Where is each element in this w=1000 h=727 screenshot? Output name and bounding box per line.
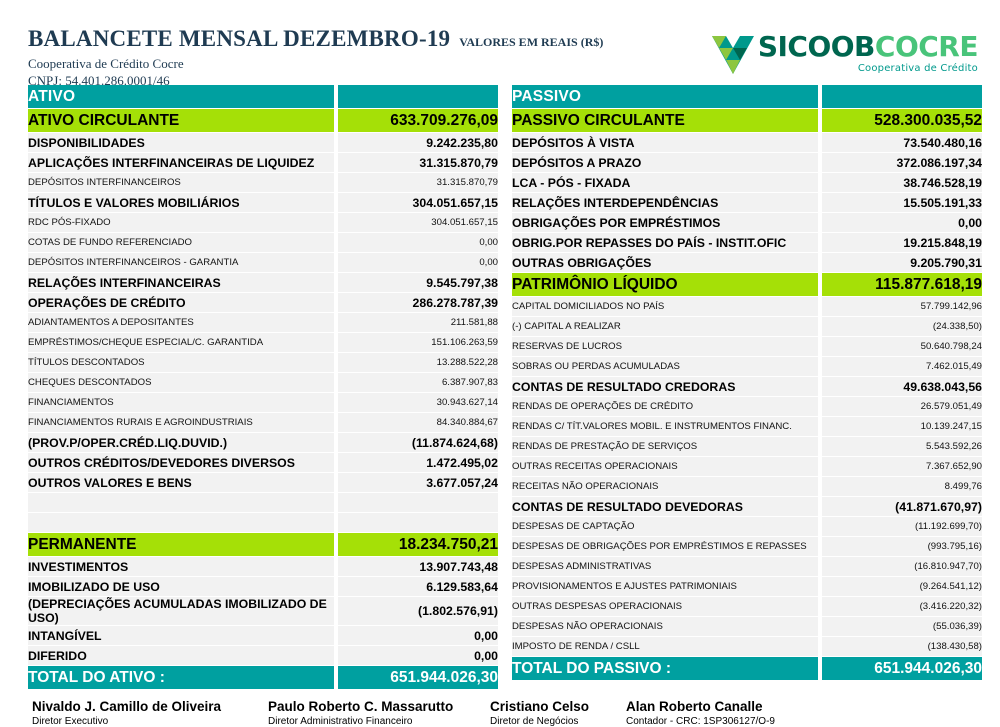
row-value: 84.340.884,67 (338, 413, 498, 432)
table-row: PASSIVO CIRCULANTE528.300.035,52 (512, 109, 982, 132)
table-row: DESPESAS DE CAPTAÇÃO(11.192.699,70) (512, 517, 982, 536)
row-value: 31.315.870,79 (338, 173, 498, 192)
row-label: DISPONIBILIDADES (28, 133, 334, 152)
table-row: CONTAS DE RESULTADO DEVEDORAS(41.871.670… (512, 497, 982, 516)
liabilities-column: PASSIVO PASSIVO CIRCULANTE528.300.035,52… (512, 84, 982, 690)
table-row: RDC PÓS-FIXADO304.051.657,15 (28, 213, 498, 232)
table-row: DEPÓSITOS A PRAZO372.086.197,34 (512, 153, 982, 172)
row-value: 528.300.035,52 (822, 109, 982, 132)
table-row: OUTRAS DESPESAS OPERACIONAIS(3.416.220,3… (512, 597, 982, 616)
row-value: 10.139.247,15 (822, 417, 982, 436)
row-value: (11.874.624,68) (338, 433, 498, 452)
balance-columns: ATIVO ATIVO CIRCULANTE633.709.276,09DISP… (0, 84, 1000, 690)
row-value: 372.086.197,34 (822, 153, 982, 172)
signature-block: Nivaldo J. Camillo de OliveiraDiretor Ex… (0, 690, 1000, 727)
row-label: OBRIG.POR REPASSES DO PAÍS - INSTIT.OFIC (512, 233, 818, 252)
row-label: RELAÇÕES INTERDEPENDÊNCIAS (512, 193, 818, 212)
row-label: OUTRAS DESPESAS OPERACIONAIS (512, 597, 818, 616)
row-label: IMOBILIZADO DE USO (28, 577, 334, 596)
table-row: TÍTULOS E VALORES MOBILIÁRIOS304.051.657… (28, 193, 498, 212)
table-row: RELAÇÕES INTERDEPENDÊNCIAS15.505.191,33 (512, 193, 982, 212)
row-value: 304.051.657,15 (338, 213, 498, 232)
row-label: CONTAS DE RESULTADO DEVEDORAS (512, 497, 818, 516)
table-row: TÍTULOS DESCONTADOS13.288.522,28 (28, 353, 498, 372)
row-label: (-) CAPITAL A REALIZAR (512, 317, 818, 336)
table-row: IMOBILIZADO DE USO6.129.583,64 (28, 577, 498, 596)
row-value: 9.545.797,38 (338, 273, 498, 292)
row-value: (138.430,58) (822, 637, 982, 656)
row-value: 633.709.276,09 (338, 109, 498, 132)
row-label: DESPESAS NÃO OPERACIONAIS (512, 617, 818, 636)
table-row: (DEPRECIAÇÕES ACUMULADAS IMOBILIZADO DE … (28, 597, 498, 625)
assets-total-value: 651.944.026,30 (338, 666, 498, 689)
row-label: OBRIGAÇÕES POR EMPRÉSTIMOS (512, 213, 818, 232)
row-value: 5.543.592,26 (822, 437, 982, 456)
row-label: RENDAS DE PRESTAÇÃO DE SERVIÇOS (512, 437, 818, 456)
table-row-spacer (28, 513, 498, 532)
table-row: FINANCIAMENTOS30.943.627,14 (28, 393, 498, 412)
row-value: 7.462.015,49 (822, 357, 982, 376)
assets-total-row: TOTAL DO ATIVO : 651.944.026,30 (28, 666, 498, 689)
sicoob-cocre-logo: SICOOBCOCRE Cooperativa de Crédito (712, 33, 978, 74)
row-value: (55.036,39) (822, 617, 982, 636)
row-value: (11.192.699,70) (822, 517, 982, 536)
row-label: RENDAS C/ TÍT.VALORES MOBIL. E INSTRUMEN… (512, 417, 818, 436)
row-value: 3.677.057,24 (338, 473, 498, 492)
row-label: EMPRÉSTIMOS/CHEQUE ESPECIAL/C. GARANTIDA (28, 333, 334, 352)
row-value: 26.579.051,49 (822, 397, 982, 416)
table-row: OUTROS CRÉDITOS/DEVEDORES DIVERSOS1.472.… (28, 453, 498, 472)
row-label: DEPÓSITOS INTERFINANCEIROS - GARANTIA (28, 253, 334, 272)
signature-role: Diretor Executivo (32, 716, 268, 727)
table-row: DESPESAS NÃO OPERACIONAIS(55.036,39) (512, 617, 982, 636)
table-row: DESPESAS ADMINISTRATIVAS(16.810.947,70) (512, 557, 982, 576)
row-value: 15.505.191,33 (822, 193, 982, 212)
row-value: 13.907.743,48 (338, 557, 498, 576)
row-value: 30.943.627,14 (338, 393, 498, 412)
table-row: IMPOSTO DE RENDA / CSLL(138.430,58) (512, 637, 982, 656)
row-label: ADIANTAMENTOS A DEPOSITANTES (28, 313, 334, 332)
row-label (28, 513, 334, 532)
table-row: APLICAÇÕES INTERFINANCEIRAS DE LIQUIDEZ3… (28, 153, 498, 172)
row-value: 0,00 (338, 233, 498, 252)
liabilities-total-row: TOTAL DO PASSIVO : 651.944.026,30 (512, 657, 982, 680)
table-row: DESPESAS DE OBRIGAÇÕES POR EMPRÉSTIMOS E… (512, 537, 982, 556)
row-label: PATRIMÔNIO LÍQUIDO (512, 273, 818, 296)
assets-total-body: TOTAL DO ATIVO : 651.944.026,30 (28, 666, 498, 689)
row-label: FINANCIAMENTOS (28, 393, 334, 412)
row-value (338, 513, 498, 532)
table-row: DEPÓSITOS À VISTA73.540.480,16 (512, 133, 982, 152)
row-label: IMPOSTO DE RENDA / CSLL (512, 637, 818, 656)
row-value: 13.288.522,28 (338, 353, 498, 372)
row-label: OUTRAS OBRIGAÇÕES (512, 253, 818, 272)
row-label: DEPÓSITOS À VISTA (512, 133, 818, 152)
table-row: CONTAS DE RESULTADO CREDORAS49.638.043,5… (512, 377, 982, 396)
row-label: PASSIVO CIRCULANTE (512, 109, 818, 132)
row-value: 38.746.528,19 (822, 173, 982, 192)
row-label: COTAS DE FUNDO REFERENCIADO (28, 233, 334, 252)
table-row: SOBRAS OU PERDAS ACUMULADAS7.462.015,49 (512, 357, 982, 376)
table-row: (-) CAPITAL A REALIZAR(24.338,50) (512, 317, 982, 336)
table-row: OUTRAS OBRIGAÇÕES9.205.790,31 (512, 253, 982, 272)
row-value: 9.242.235,80 (338, 133, 498, 152)
row-value: 57.799.142,96 (822, 297, 982, 316)
signature-role: Contador - CRC: 1SP306127/O-9 (626, 716, 775, 727)
row-value: 286.278.787,39 (338, 293, 498, 312)
row-value: 0,00 (822, 213, 982, 232)
assets-rows: ATIVO CIRCULANTE633.709.276,09DISPONIBIL… (28, 109, 498, 665)
row-label: DIFERIDO (28, 646, 334, 665)
table-row: OPERAÇÕES DE CRÉDITO286.278.787,39 (28, 293, 498, 312)
liabilities-total-body: TOTAL DO PASSIVO : 651.944.026,30 (512, 657, 982, 680)
table-row: OUTROS VALORES E BENS3.677.057,24 (28, 473, 498, 492)
row-label: PERMANENTE (28, 533, 334, 556)
row-label: SOBRAS OU PERDAS ACUMULADAS (512, 357, 818, 376)
table-row: ATIVO CIRCULANTE633.709.276,09 (28, 109, 498, 132)
row-label: TÍTULOS E VALORES MOBILIÁRIOS (28, 193, 334, 212)
row-label: RESERVAS DE LUCROS (512, 337, 818, 356)
row-label: PROVISIONAMENTOS E AJUSTES PATRIMONIAIS (512, 577, 818, 596)
table-row: ADIANTAMENTOS A DEPOSITANTES211.581,88 (28, 313, 498, 332)
table-row: RECEITAS NÃO OPERACIONAIS8.499,76 (512, 477, 982, 496)
row-label: LCA - PÓS - FIXADA (512, 173, 818, 192)
row-label: DESPESAS DE OBRIGAÇÕES POR EMPRÉSTIMOS E… (512, 537, 818, 556)
table-row: INTANGÍVEL0,00 (28, 626, 498, 645)
row-label: CAPITAL DOMICILIADOS NO PAÍS (512, 297, 818, 316)
table-row: DISPONIBILIDADES9.242.235,80 (28, 133, 498, 152)
balance-sheet-page: BALANCETE MENSAL DEZEMBRO-19 VALORES EM … (0, 0, 1000, 707)
table-row: EMPRÉSTIMOS/CHEQUE ESPECIAL/C. GARANTIDA… (28, 333, 498, 352)
row-label: OUTROS VALORES E BENS (28, 473, 334, 492)
row-value: 0,00 (338, 626, 498, 645)
row-label: INVESTIMENTOS (28, 557, 334, 576)
row-value: (24.338,50) (822, 317, 982, 336)
document-header: BALANCETE MENSAL DEZEMBRO-19 VALORES EM … (0, 0, 1000, 84)
row-value: (3.416.220,32) (822, 597, 982, 616)
logo-text: SICOOBCOCRE Cooperativa de Crédito (758, 33, 978, 74)
row-label: OUTRAS RECEITAS OPERACIONAIS (512, 457, 818, 476)
row-value (338, 493, 498, 512)
table-row: OBRIGAÇÕES POR EMPRÉSTIMOS0,00 (512, 213, 982, 232)
liabilities-total-label: TOTAL DO PASSIVO : (512, 657, 818, 680)
row-value: 211.581,88 (338, 313, 498, 332)
row-value: 73.540.480,16 (822, 133, 982, 152)
signature-entry: Paulo Roberto C. MassaruttoDiretor Admin… (268, 699, 490, 727)
table-row: CAPITAL DOMICILIADOS NO PAÍS57.799.142,9… (512, 297, 982, 316)
table-row: RENDAS DE PRESTAÇÃO DE SERVIÇOS5.543.592… (512, 437, 982, 456)
logo-wordmark: SICOOBCOCRE (758, 33, 978, 61)
row-label: (DEPRECIAÇÕES ACUMULADAS IMOBILIZADO DE … (28, 597, 334, 625)
row-label: INTANGÍVEL (28, 626, 334, 645)
row-value: 6.129.583,64 (338, 577, 498, 596)
row-label: RELAÇÕES INTERFINANCEIRAS (28, 273, 334, 292)
assets-table: ATIVO ATIVO CIRCULANTE633.709.276,09DISP… (28, 84, 498, 690)
row-label (28, 493, 334, 512)
logo-cocre-text: COCRE (875, 30, 978, 63)
table-row: DEPÓSITOS INTERFINANCEIROS - GARANTIA0,0… (28, 253, 498, 272)
table-row: RENDAS C/ TÍT.VALORES MOBIL. E INSTRUMEN… (512, 417, 982, 436)
table-row: INVESTIMENTOS13.907.743,48 (28, 557, 498, 576)
row-value: 0,00 (338, 253, 498, 272)
row-value: 304.051.657,15 (338, 193, 498, 212)
signature-entry: Nivaldo J. Camillo de OliveiraDiretor Ex… (32, 699, 268, 727)
row-value: (1.802.576,91) (338, 597, 498, 625)
page-title: BALANCETE MENSAL DEZEMBRO-19 (28, 26, 450, 52)
sicoob-triangle-icon (712, 36, 754, 74)
row-label: DEPÓSITOS A PRAZO (512, 153, 818, 172)
row-label: FINANCIAMENTOS RURAIS E AGROINDUSTRIAIS (28, 413, 334, 432)
table-row: PROVISIONAMENTOS E AJUSTES PATRIMONIAIS(… (512, 577, 982, 596)
row-label: DEPÓSITOS INTERFINANCEIROS (28, 173, 334, 192)
row-value: 49.638.043,56 (822, 377, 982, 396)
row-value: 0,00 (338, 646, 498, 665)
assets-column: ATIVO ATIVO CIRCULANTE633.709.276,09DISP… (28, 84, 498, 690)
logo-sicoob-text: SICOOB (758, 30, 875, 63)
table-row: CHEQUES DESCONTADOS6.387.907,83 (28, 373, 498, 392)
row-value: (16.810.947,70) (822, 557, 982, 576)
row-label: TÍTULOS DESCONTADOS (28, 353, 334, 372)
signature-role: Diretor de Negócios (490, 716, 626, 727)
row-label: (PROV.P/OPER.CRÉD.LIQ.DUVID.) (28, 433, 334, 452)
table-row: PERMANENTE18.234.750,21 (28, 533, 498, 556)
row-value: 115.877.618,19 (822, 273, 982, 296)
table-row: PATRIMÔNIO LÍQUIDO115.877.618,19 (512, 273, 982, 296)
liabilities-rows: PASSIVO CIRCULANTE528.300.035,52DEPÓSITO… (512, 109, 982, 656)
signature-entry: Cristiano CelsoDiretor de Negócios (490, 699, 626, 727)
table-row: FINANCIAMENTOS RURAIS E AGROINDUSTRIAIS8… (28, 413, 498, 432)
row-label: ATIVO CIRCULANTE (28, 109, 334, 132)
table-row-spacer (28, 493, 498, 512)
row-value: 31.315.870,79 (338, 153, 498, 172)
company-cnpj: CNPJ: 54.401.286.0001/46 (28, 73, 980, 89)
row-value: 18.234.750,21 (338, 533, 498, 556)
row-value: 1.472.495,02 (338, 453, 498, 472)
row-label: DESPESAS DE CAPTAÇÃO (512, 517, 818, 536)
table-row: RENDAS DE OPERAÇÕES DE CRÉDITO26.579.051… (512, 397, 982, 416)
liabilities-total-value: 651.944.026,30 (822, 657, 982, 680)
table-row: DIFERIDO0,00 (28, 646, 498, 665)
row-value: 50.640.798,24 (822, 337, 982, 356)
row-label: CHEQUES DESCONTADOS (28, 373, 334, 392)
signature-role: Diretor Administrativo Financeiro (268, 716, 490, 727)
logo-tagline: Cooperativa de Crédito (858, 63, 978, 74)
row-label: OPERAÇÕES DE CRÉDITO (28, 293, 334, 312)
row-label: OUTROS CRÉDITOS/DEVEDORES DIVERSOS (28, 453, 334, 472)
row-value: 8.499,76 (822, 477, 982, 496)
row-label: APLICAÇÕES INTERFINANCEIRAS DE LIQUIDEZ (28, 153, 334, 172)
table-row: LCA - PÓS - FIXADA38.746.528,19 (512, 173, 982, 192)
table-row: RESERVAS DE LUCROS50.640.798,24 (512, 337, 982, 356)
table-row: (PROV.P/OPER.CRÉD.LIQ.DUVID.)(11.874.624… (28, 433, 498, 452)
row-label: RDC PÓS-FIXADO (28, 213, 334, 232)
row-value: 9.205.790,31 (822, 253, 982, 272)
assets-total-label: TOTAL DO ATIVO : (28, 666, 334, 689)
row-value: (9.264.541,12) (822, 577, 982, 596)
table-row: OUTRAS RECEITAS OPERACIONAIS7.367.652,90 (512, 457, 982, 476)
row-label: DESPESAS ADMINISTRATIVAS (512, 557, 818, 576)
row-label: CONTAS DE RESULTADO CREDORAS (512, 377, 818, 396)
currency-note: VALORES EM REAIS (R$) (459, 35, 603, 50)
row-value: (41.871.670,97) (822, 497, 982, 516)
row-value: 19.215.848,19 (822, 233, 982, 252)
liabilities-table: PASSIVO PASSIVO CIRCULANTE528.300.035,52… (512, 84, 982, 681)
table-row: OBRIG.POR REPASSES DO PAÍS - INSTIT.OFIC… (512, 233, 982, 252)
row-value: (993.795,16) (822, 537, 982, 556)
signature-entry: Alan Roberto CanalleContador - CRC: 1SP3… (626, 699, 775, 727)
row-value: 151.106.263,59 (338, 333, 498, 352)
row-label: RECEITAS NÃO OPERACIONAIS (512, 477, 818, 496)
table-row: COTAS DE FUNDO REFERENCIADO0,00 (28, 233, 498, 252)
table-row: DEPÓSITOS INTERFINANCEIROS31.315.870,79 (28, 173, 498, 192)
row-label: RENDAS DE OPERAÇÕES DE CRÉDITO (512, 397, 818, 416)
row-value: 6.387.907,83 (338, 373, 498, 392)
table-row: RELAÇÕES INTERFINANCEIRAS9.545.797,38 (28, 273, 498, 292)
row-value: 7.367.652,90 (822, 457, 982, 476)
